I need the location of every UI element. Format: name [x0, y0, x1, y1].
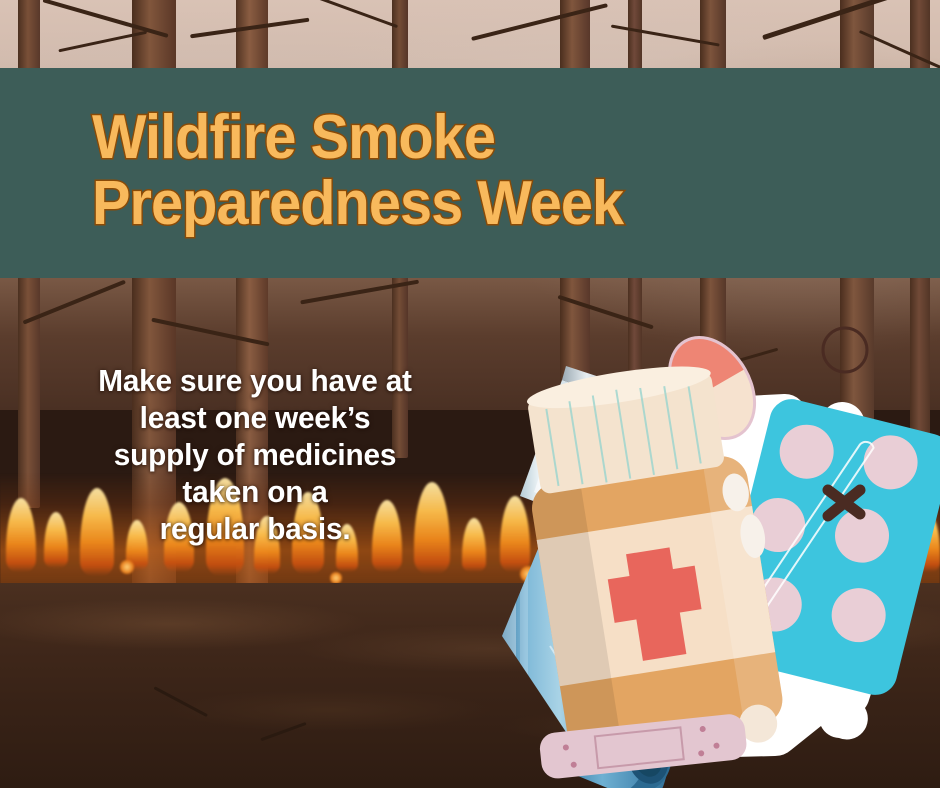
ember	[120, 560, 134, 574]
medicine-supplies-illustration	[460, 300, 940, 788]
circle-mark	[823, 328, 867, 372]
body-message: Make sure you have at least one week’s s…	[70, 362, 441, 547]
wildfire-smoke-poster: Wildfire Smoke Preparedness Week Make su…	[0, 0, 940, 788]
page-title: Wildfire Smoke Preparedness Week	[92, 105, 623, 237]
